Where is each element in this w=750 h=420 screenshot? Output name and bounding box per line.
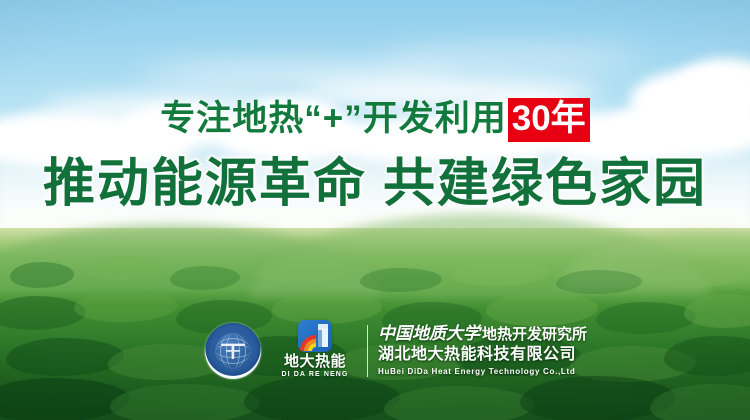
tagline-line: 专注地热“+”开发利用30年 — [0, 96, 750, 142]
university-name: 中国地质大学 — [378, 324, 480, 343]
dida-brand-cn: 地大热能 — [284, 354, 346, 370]
geology-hammer-icon — [220, 341, 246, 361]
org-line-1: 中国地质大学地热开发研究所 — [378, 324, 587, 344]
footer-logo-bar: 地大热能 DI DA RE NENG 中国地质大学地热开发研究所 湖北地大热能科… — [205, 318, 550, 384]
organization-text-block: 中国地质大学地热开发研究所 湖北地大热能科技有限公司 HuBei DiDa He… — [378, 321, 587, 381]
logo-divider — [367, 325, 368, 377]
main-headline: 推动能源革命共建绿色家园 — [0, 154, 750, 214]
dida-brand-en: DI DA RE NENG — [282, 370, 349, 380]
tagline-text: 专注地热“+”开发利用 — [160, 99, 506, 138]
dida-rainbow-mark-icon — [298, 320, 332, 352]
company-name-cn: 湖北地大热能科技有限公司 — [378, 344, 587, 365]
headline-part-2: 共建绿色家园 — [383, 155, 707, 213]
headline-block: 专注地热“+”开发利用30年 推动能源革命共建绿色家园 — [0, 96, 750, 214]
company-name-en: HuBei DiDa Heat Energy Technology Co.,Lt… — [378, 365, 587, 378]
institute-name: 地热开发研究所 — [482, 326, 587, 343]
university-seal-icon — [205, 323, 261, 379]
promotional-banner: 专注地热“+”开发利用30年 推动能源革命共建绿色家园 — [0, 0, 750, 420]
years-badge: 30年 — [508, 98, 590, 142]
headline-part-1: 推动能源革命 — [43, 155, 367, 213]
dida-brand-logo: 地大热能 DI DA RE NENG — [269, 320, 361, 382]
